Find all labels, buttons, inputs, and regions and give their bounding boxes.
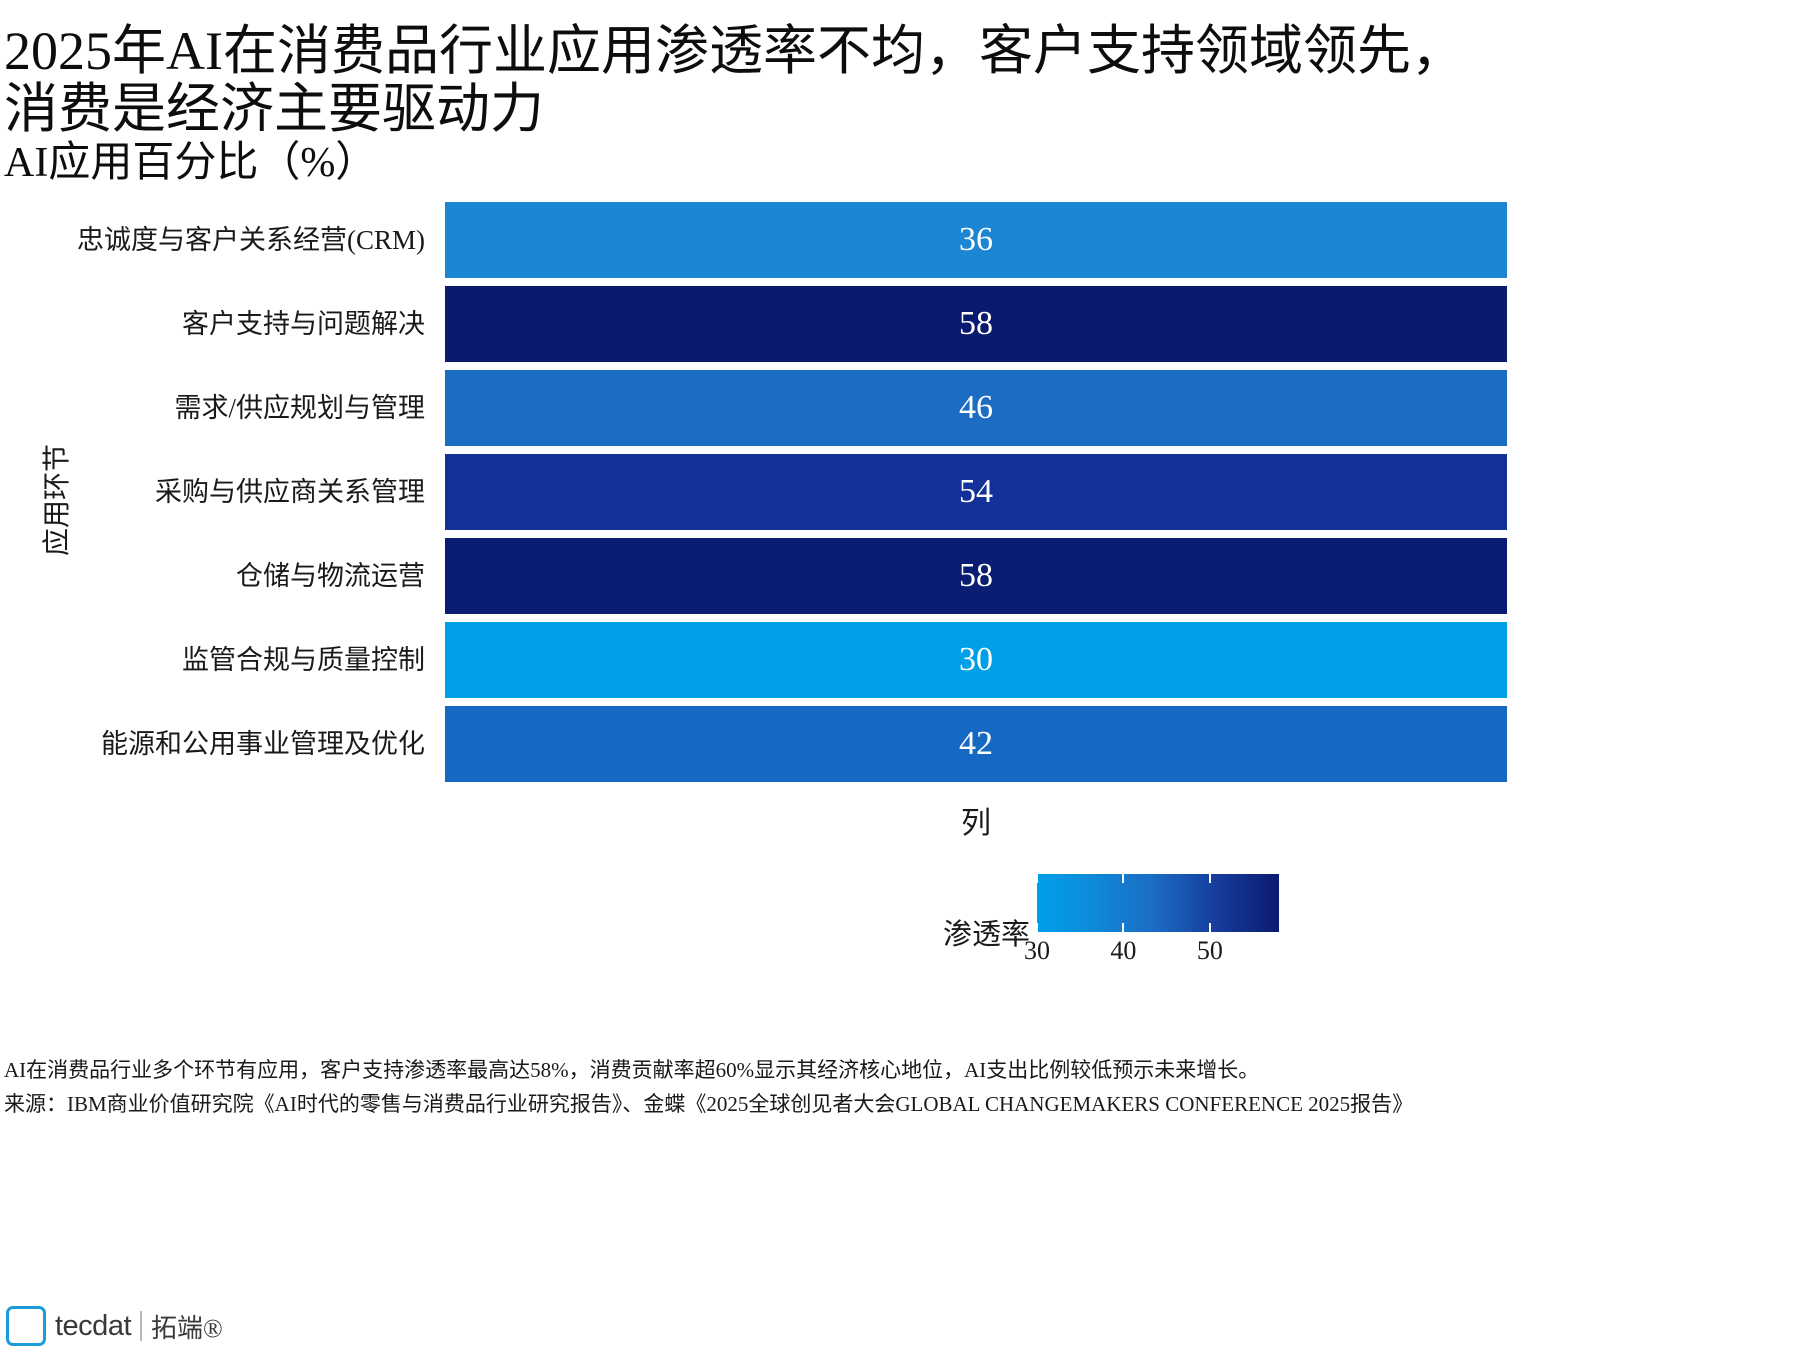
y-axis-tick-label: 能源和公用事业管理及优化 <box>0 729 425 759</box>
logo-brand-text: tecdat <box>55 1310 131 1343</box>
bar-value-label: 42 <box>959 727 993 761</box>
colorbar-tick-mark <box>1122 923 1124 932</box>
y-axis-tick-label: 客户支持与问题解决 <box>0 309 425 339</box>
bar-row[interactable]: 58 <box>445 286 1507 362</box>
bar[interactable]: 58 <box>445 538 1507 614</box>
y-axis-title: 应用环节 <box>35 410 75 590</box>
chart-canvas: 2025年AI在消费品行业应用渗透率不均，客户支持领域领先， 消费是经济主要驱动… <box>0 0 1814 1361</box>
colorbar-tick-mark <box>1122 874 1124 883</box>
bar-row[interactable]: 54 <box>445 454 1507 530</box>
bar-row[interactable]: 30 <box>445 622 1507 698</box>
bar-value-label: 54 <box>959 475 993 509</box>
bar-row[interactable]: 42 <box>445 706 1507 782</box>
colorbar-tick-mark <box>1036 874 1038 883</box>
x-axis-title: 列 <box>445 798 1507 842</box>
bar-row[interactable]: 58 <box>445 538 1507 614</box>
chart-subtitle: AI应用百分比（%） <box>4 140 377 186</box>
y-axis-tick-label: 忠诚度与客户关系经营(CRM) <box>0 225 425 255</box>
tecdat-logo: tecdat 拓端® <box>6 1304 223 1348</box>
logo-square-icon <box>6 1306 46 1346</box>
chart-title-line-2: 消费是经济主要驱动力 <box>4 82 1810 136</box>
footer-note: AI在消费品行业多个环节有应用，客户支持渗透率最高达58%，消费贡献率超60%显… <box>4 1053 1810 1087</box>
footer-source: 来源：IBM商业价值研究院《AI时代的零售与消费品行业研究报告》、金蝶《2025… <box>4 1087 1810 1121</box>
bar[interactable]: 46 <box>445 370 1507 446</box>
bar-value-label: 58 <box>959 307 993 341</box>
bar[interactable]: 58 <box>445 286 1507 362</box>
bar-value-label: 46 <box>959 391 993 425</box>
plot-area: 36584654583042 <box>445 198 1507 786</box>
logo-divider <box>140 1311 142 1341</box>
bar[interactable]: 36 <box>445 202 1507 278</box>
colorbar-tick-mark <box>1209 923 1211 932</box>
colorbar-legend-title: 渗透率 <box>808 911 1030 953</box>
bar[interactable]: 54 <box>445 454 1507 530</box>
bar-value-label: 36 <box>959 223 993 257</box>
colorbar-tick-label: 40 <box>1110 936 1136 966</box>
colorbar-legend: 渗透率 304050 <box>808 870 1408 980</box>
colorbar-gradient <box>1037 874 1279 932</box>
bar-value-label: 30 <box>959 643 993 677</box>
bar-row[interactable]: 46 <box>445 370 1507 446</box>
colorbar-tick-mark <box>1209 874 1211 883</box>
colorbar-tick-mark <box>1036 923 1038 932</box>
colorbar-tick-label: 30 <box>1024 936 1050 966</box>
bar-value-label: 58 <box>959 559 993 593</box>
bar-row[interactable]: 36 <box>445 202 1507 278</box>
colorbar-wrap: 304050 <box>1037 874 1279 932</box>
chart-title-line-1: 2025年AI在消费品行业应用渗透率不均，客户支持领域领先， <box>4 24 1810 78</box>
bar[interactable]: 30 <box>445 622 1507 698</box>
logo-cn-text: 拓端® <box>151 1308 223 1345</box>
footer-notes: AI在消费品行业多个环节有应用，客户支持渗透率最高达58%，消费贡献率超60%显… <box>4 1053 1810 1121</box>
y-axis-tick-label: 监管合规与质量控制 <box>0 645 425 675</box>
chart-title-block: 2025年AI在消费品行业应用渗透率不均，客户支持领域领先， 消费是经济主要驱动… <box>4 24 1810 136</box>
colorbar-tick-label: 50 <box>1197 936 1223 966</box>
bar[interactable]: 42 <box>445 706 1507 782</box>
